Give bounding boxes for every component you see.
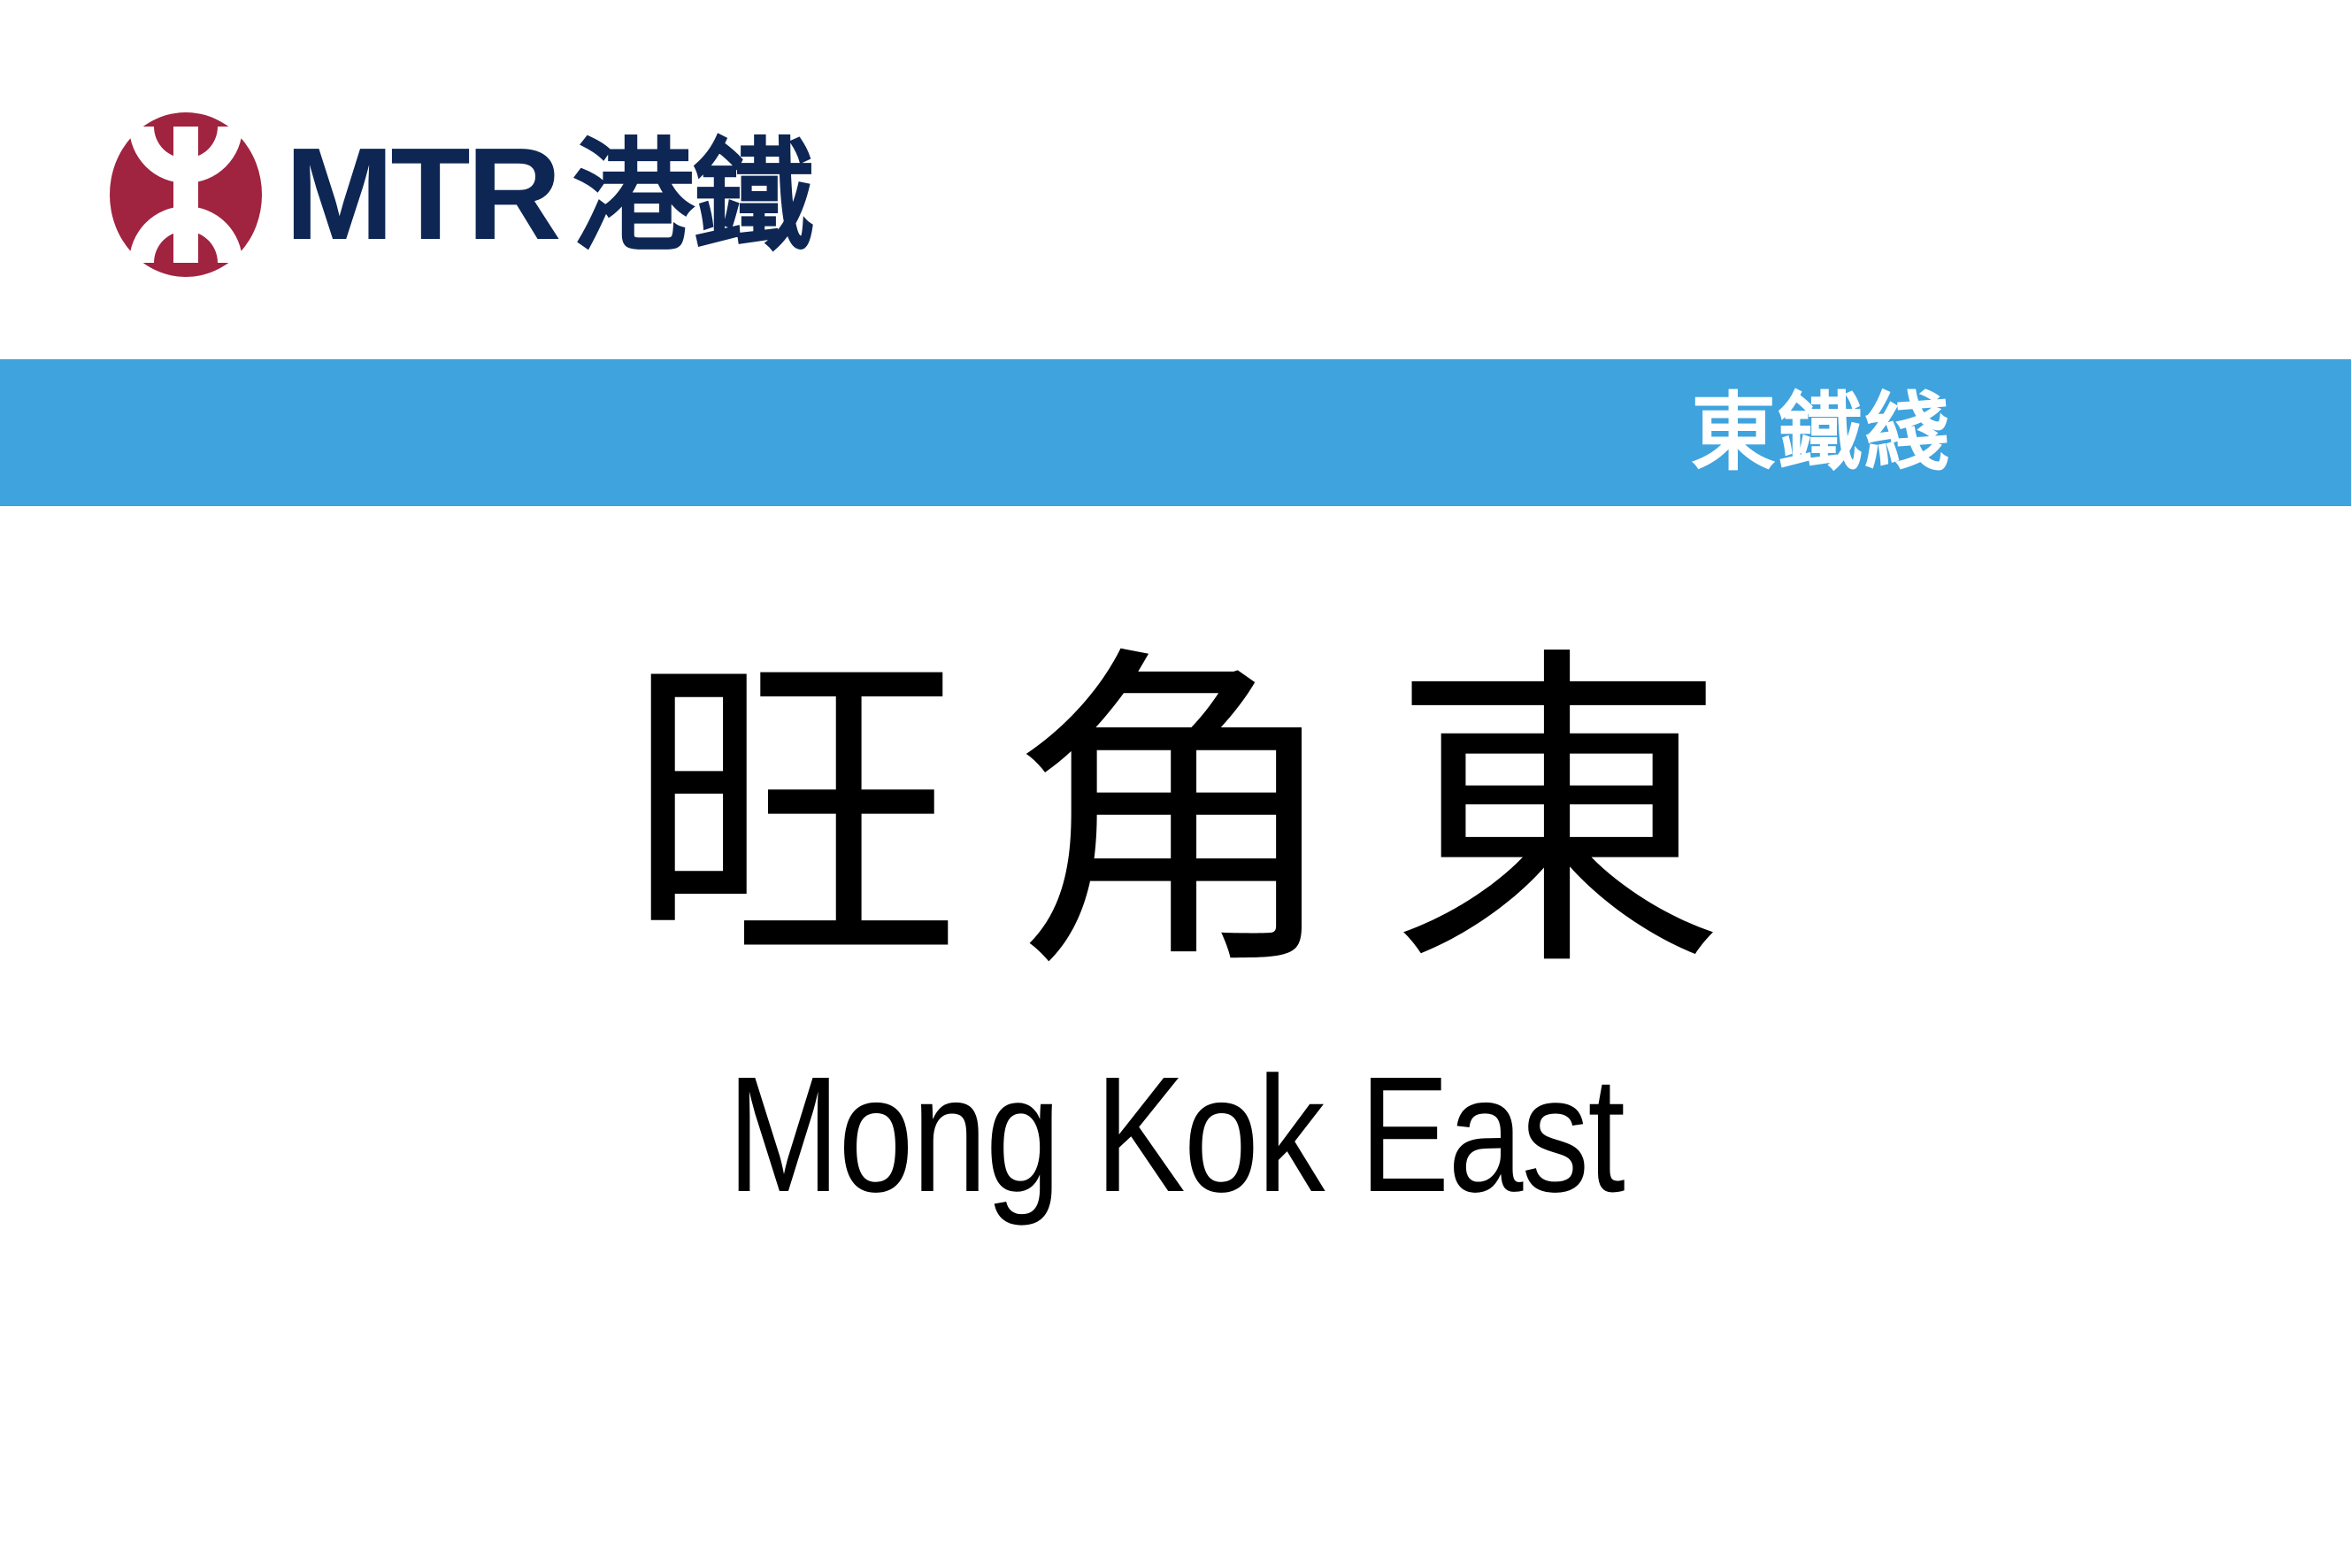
station-name-block: 旺角東 Mong Kok East	[0, 506, 2351, 1568]
mtr-brand-lockup: MTR 港鐵	[110, 112, 813, 277]
station-name-english: Mong Kok East	[727, 1053, 1624, 1218]
brand-header: MTR 港鐵	[0, 0, 2351, 359]
line-colour-banner: 東鐵綫	[0, 359, 2351, 506]
station-name-sign: MTR 港鐵 東鐵綫 旺角東 Mong Kok East	[0, 0, 2351, 1568]
station-name-chinese: 旺角東	[580, 648, 1772, 984]
mtr-wordmark: MTR 港鐵	[285, 129, 813, 260]
mtr-wordmark-latin: MTR	[285, 129, 558, 260]
line-name-label: 東鐵綫	[1691, 390, 1951, 475]
mtr-wordmark-chinese: 港鐵	[572, 136, 813, 258]
mtr-logo-icon	[110, 112, 262, 277]
